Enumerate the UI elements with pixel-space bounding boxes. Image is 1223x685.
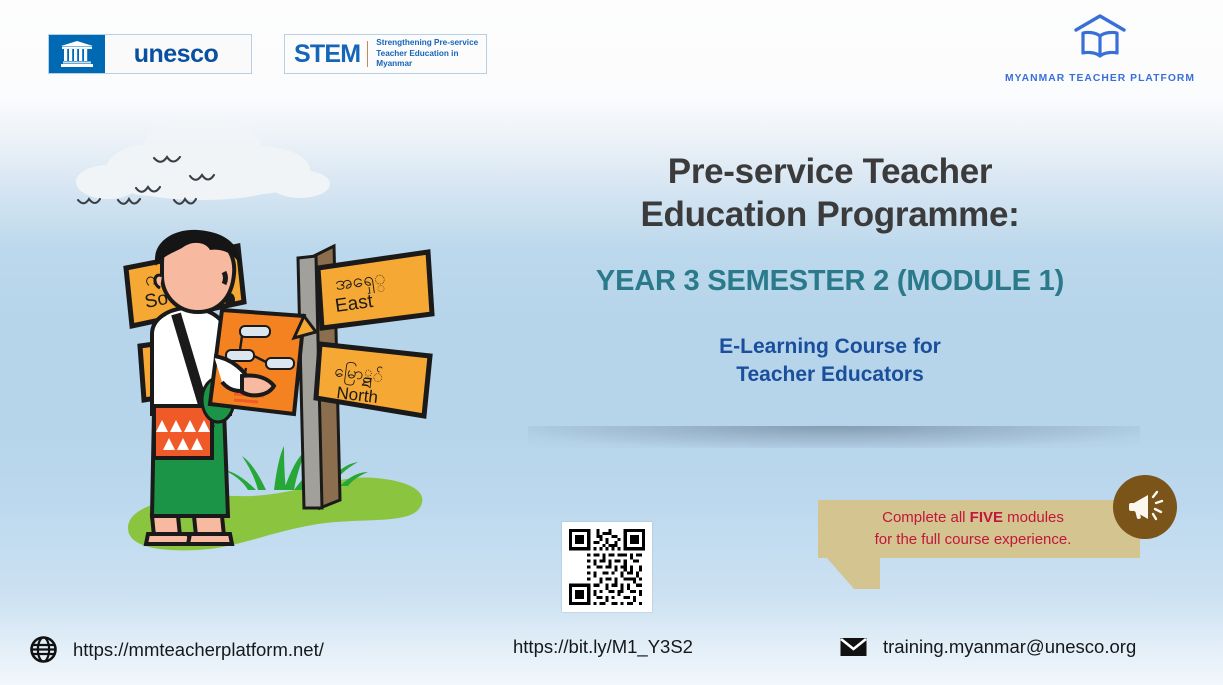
title-line-2: Education Programme:: [540, 193, 1120, 236]
subtitle-line-2: Teacher Educators: [540, 361, 1120, 389]
unesco-wordmark: unesco: [105, 35, 251, 73]
stem-wordmark: STEM: [285, 40, 367, 69]
subtitle-line-1: E-Learning Course for: [540, 333, 1120, 361]
footer-bar: https://mmteacherplatform.net/ https://b…: [0, 623, 1223, 685]
stem-logo: STEM Strengthening Pre-service Teacher E…: [284, 34, 487, 74]
stem-tagline: Strengthening Pre-service Teacher Educat…: [368, 38, 478, 71]
callout-tail: [826, 557, 880, 589]
callout-line-1: Complete all FIVE modules: [882, 507, 1064, 529]
logo-bar: unesco STEM Strengthening Pre-service Te…: [0, 0, 1223, 100]
unesco-logo: unesco: [48, 34, 252, 74]
email-address[interactable]: training.myanmar@unesco.org: [883, 636, 1136, 658]
megaphone-icon: [1113, 475, 1177, 539]
footer-website[interactable]: https://mmteacherplatform.net/: [30, 636, 324, 663]
poster-canvas: unesco STEM Strengthening Pre-service Te…: [0, 0, 1223, 685]
myanmar-teacher-platform-logo: MYANMAR TEACHER PLATFORM: [1005, 12, 1195, 84]
ground-shadow-divider: [528, 426, 1140, 448]
website-url[interactable]: https://mmteacherplatform.net/: [73, 639, 324, 661]
cloud-and-birds-decoration: [70, 108, 340, 228]
callout-emphasis: FIVE: [970, 509, 1003, 526]
callout-text-before: Complete all: [882, 509, 970, 526]
envelope-icon: [840, 637, 867, 657]
stem-tagline-line-2: Teacher Education in: [376, 49, 478, 60]
course-subtitle: E-Learning Course for Teacher Educators: [540, 333, 1120, 389]
year-semester-module-label: YEAR 3 SEMESTER 2 (MODULE 1): [540, 265, 1120, 298]
page-title: Pre-service Teacher Education Programme:: [540, 150, 1120, 237]
shortlink-url[interactable]: https://bit.ly/M1_Y3S2: [513, 636, 693, 658]
callout-text-after: modules: [1003, 509, 1064, 526]
stem-tagline-line-3: Myanmar: [376, 59, 478, 70]
callout-text: Complete all FIVE modules for the full c…: [818, 500, 1128, 558]
callout-line-2: for the full course experience.: [875, 529, 1072, 551]
headline-block: Pre-service Teacher Education Programme:…: [540, 150, 1120, 389]
illustration-boy-with-signpost: ကတာင် South အရှေ္ East အနောྠ်: [118, 228, 438, 588]
footer-email[interactable]: training.myanmar@unesco.org: [840, 636, 1136, 658]
globe-icon: [30, 636, 57, 663]
title-line-1: Pre-service Teacher: [540, 150, 1120, 193]
platform-label: MYANMAR TEACHER PLATFORM: [1005, 73, 1195, 84]
callout-complete-all-modules: Complete all FIVE modules for the full c…: [818, 500, 1178, 590]
footer-shortlink[interactable]: https://bit.ly/M1_Y3S2: [513, 636, 693, 658]
unesco-temple-icon: [49, 35, 105, 73]
open-book-house-icon: [1071, 12, 1129, 67]
stem-tagline-line-1: Strengthening Pre-service: [376, 38, 478, 49]
qr-code-module-link[interactable]: [562, 522, 652, 612]
